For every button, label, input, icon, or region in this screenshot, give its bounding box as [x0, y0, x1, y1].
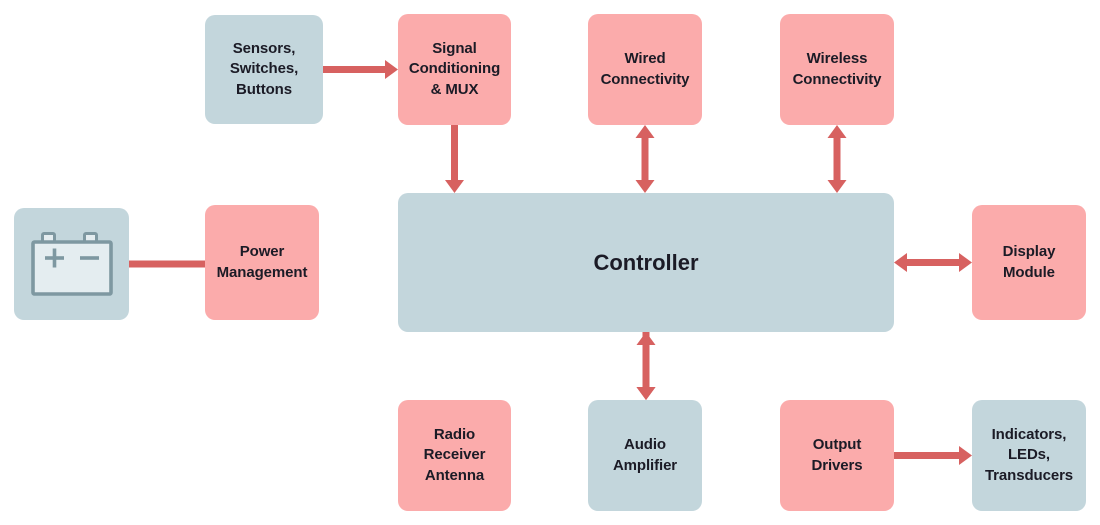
edge-wired-controller-shaft — [642, 137, 649, 181]
edge-controller-to-outputdrv-head — [637, 387, 656, 400]
edge-sensors-to-signal-shaft — [323, 66, 386, 73]
display-module: Display Module — [972, 205, 1086, 320]
battery-source — [14, 208, 129, 320]
edge-controller-to-audio-head — [637, 387, 656, 400]
battery-icon — [30, 231, 114, 297]
edge-outputdrv-to-indicators-shaft — [894, 452, 960, 459]
edge-signal-to-controller-shaft — [451, 125, 458, 181]
edge-wireless-controller-head-end — [828, 180, 847, 193]
controller: Controller — [398, 193, 894, 332]
edge-wireless-controller-head-start — [828, 125, 847, 138]
wireless-connectivity: Wireless Connectivity — [780, 14, 894, 125]
edge-sensors-to-signal-head — [385, 60, 398, 79]
power-management: Power Management — [205, 205, 319, 320]
wireless-connectivity-label: Wireless Connectivity — [793, 49, 882, 89]
output-drivers: Output Drivers — [780, 400, 894, 511]
edge-controller-display-head-end — [959, 253, 972, 272]
wired-connectivity-label: Wired Connectivity — [601, 49, 690, 89]
edge-controller-radio-head-start — [637, 332, 656, 345]
indicators-leds-transducers-label: Indicators, LEDs, Transducers — [985, 425, 1073, 485]
audio-amplifier-label: Audio Amplifier — [613, 435, 677, 475]
edge-controller-to-outputdrv-shaft — [643, 332, 650, 388]
edge-wired-controller-head-end — [636, 180, 655, 193]
display-module-label: Display Module — [1003, 242, 1056, 282]
signal-conditioning-mux-label: Signal Conditioning & MUX — [409, 39, 500, 99]
edge-battery-to-power-shaft — [129, 261, 205, 268]
power-management-label: Power Management — [217, 242, 308, 282]
block-diagram: Sensors, Switches, ButtonsPower Manageme… — [0, 0, 1100, 525]
radio-receiver-antenna-label: Radio Receiver Antenna — [424, 425, 486, 485]
indicators-leds-transducers: Indicators, LEDs, Transducers — [972, 400, 1086, 511]
radio-receiver-antenna: Radio Receiver Antenna — [398, 400, 511, 511]
edge-signal-to-controller-head — [445, 180, 464, 193]
signal-conditioning-mux: Signal Conditioning & MUX — [398, 14, 511, 125]
controller-label: Controller — [593, 248, 698, 277]
edge-controller-display-shaft — [906, 259, 960, 266]
edge-outputdrv-to-indicators-head — [959, 446, 972, 465]
edge-controller-radio-head-end — [637, 387, 656, 400]
wired-connectivity: Wired Connectivity — [588, 14, 702, 125]
audio-amplifier: Audio Amplifier — [588, 400, 702, 511]
edge-controller-display-head-start — [894, 253, 907, 272]
sensors-switches-buttons-label: Sensors, Switches, Buttons — [230, 39, 298, 99]
edge-wireless-controller-shaft — [834, 137, 841, 181]
edge-controller-to-audio-shaft — [643, 332, 650, 388]
edge-controller-radio-shaft — [643, 344, 650, 388]
edge-wired-controller-head-start — [636, 125, 655, 138]
output-drivers-label: Output Drivers — [811, 435, 862, 475]
sensors-switches-buttons: Sensors, Switches, Buttons — [205, 15, 323, 124]
